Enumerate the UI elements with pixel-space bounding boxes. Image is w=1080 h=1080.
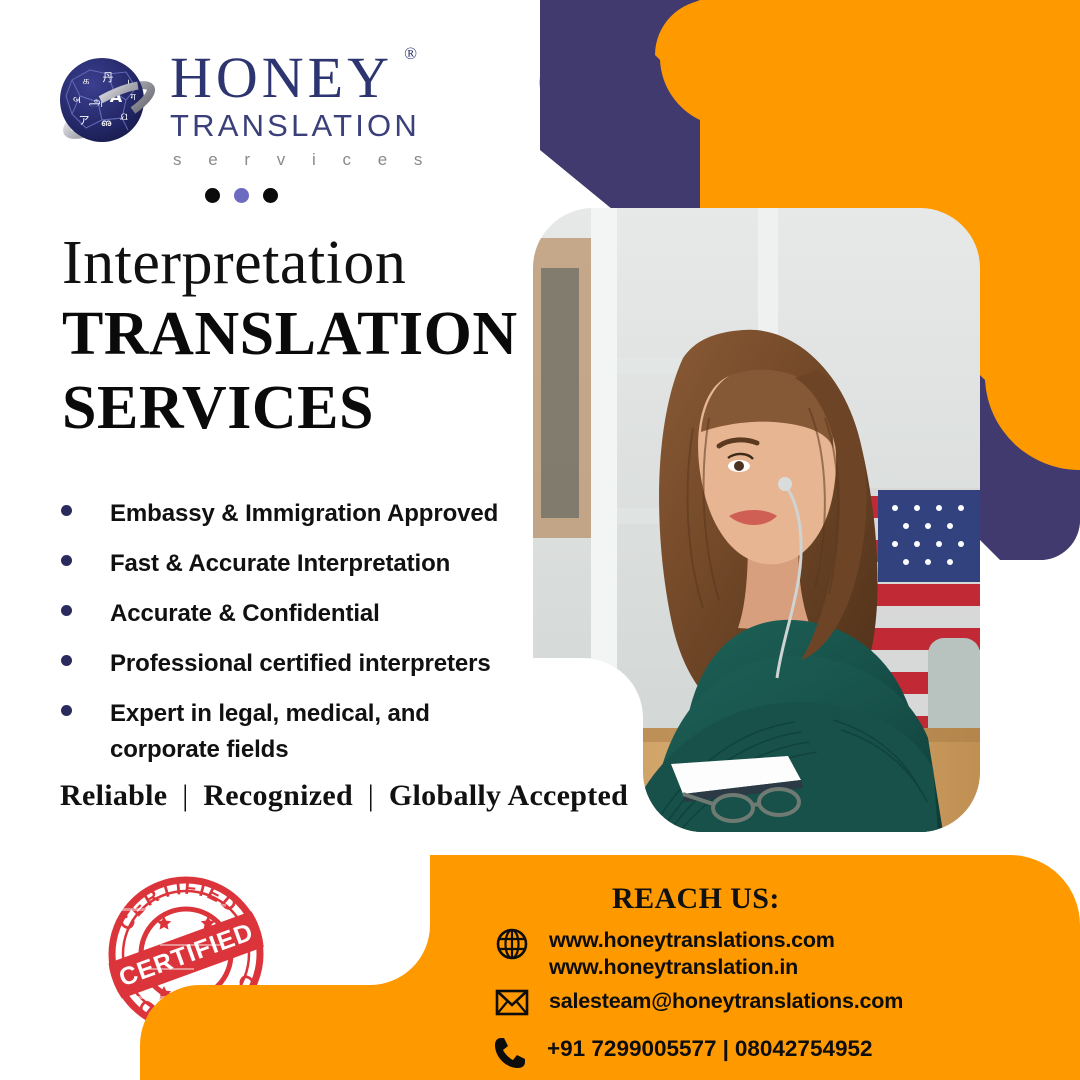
poster-canvas: க 丹 । બ அ A ग ア ഌ ଯ HONEY [0,0,1080,1080]
list-item-label: Embassy & Immigration Approved [110,496,498,532]
svg-text:ଯ: ଯ [120,112,128,123]
list-item: Expert in legal, medical, and corporate … [56,696,536,768]
website-row: www.honeytranslations.com www.honeytrans… [492,927,835,982]
phone-icon [490,1035,530,1071]
globe-languages-icon: க 丹 । બ அ A ग ア ഌ ଯ [52,48,160,156]
headline-block: Interpretation TRANSLATION SERVICES [62,232,532,441]
phone-numbers[interactable]: +91 7299005577|08042754952 [547,1035,873,1064]
globe-icon [492,927,532,961]
dot-1 [205,188,220,203]
website-list[interactable]: www.honeytranslations.com www.honeytrans… [549,927,835,982]
list-item-label: Accurate & Confidential [110,596,380,632]
phone-number-1[interactable]: +91 7299005577 [547,1036,717,1061]
list-item: Professional certified interpreters [56,646,536,682]
logo-subline-translation: TRANSLATION [170,107,433,146]
headline-bold-line-1: TRANSLATION [62,302,532,368]
list-item-label: Professional certified interpreters [110,646,491,682]
headline-bold-line-2: SERVICES [62,376,532,442]
registered-mark-icon: ® [404,46,417,62]
bullet-dot-icon [61,655,72,666]
email-row: salesteam@honeytranslations.com [492,988,903,1018]
svg-text:丹: 丹 [103,71,114,84]
dot-2 [234,188,249,203]
interpreter-photo [533,208,980,832]
svg-text:ഌ: ഌ [101,118,112,129]
dot-3 [263,188,278,203]
logo-wordmark: HONEY ® [170,50,393,105]
website-1[interactable]: www.honeytranslations.com [549,928,835,952]
tagline-part-2: Recognized [203,779,353,812]
list-item: Fast & Accurate Interpretation [56,546,536,582]
svg-text:ア: ア [79,114,90,127]
tagline-part-1: Reliable [60,779,167,812]
bullet-dot-icon [61,505,72,516]
svg-text:க: க [82,74,89,87]
reach-us-title: REACH US: [612,882,780,916]
phone-number-2[interactable]: 08042754952 [735,1036,873,1061]
list-item: Embassy & Immigration Approved [56,496,536,532]
bullet-dot-icon [61,555,72,566]
envelope-icon [492,988,532,1018]
list-item: Accurate & Confidential [56,596,536,632]
phone-row: +91 7299005577|08042754952 [490,1035,873,1071]
list-item-label: Fast & Accurate Interpretation [110,546,450,582]
feature-list: Embassy & Immigration Approved Fast & Ac… [56,496,536,782]
website-2[interactable]: www.honeytranslation.in [549,955,798,979]
contact-panel: REACH US: www.honeytranslations.com www.… [0,855,1080,1080]
tagline-separator-1: | [175,779,195,812]
tagline-separator-2: | [361,779,381,812]
phone-separator: | [717,1036,735,1061]
logo-subline-services: s e r v i c e s [170,150,433,170]
dot-divider [205,188,278,203]
logo-name: HONEY [170,45,393,110]
headline-script-line: Interpretation [62,232,532,294]
list-item-label: Expert in legal, medical, and corporate … [110,696,460,768]
email-address[interactable]: salesteam@honeytranslations.com [549,988,903,1015]
svg-text:બ: બ [73,95,81,106]
bullet-dot-icon [61,705,72,716]
bullet-dot-icon [61,605,72,616]
